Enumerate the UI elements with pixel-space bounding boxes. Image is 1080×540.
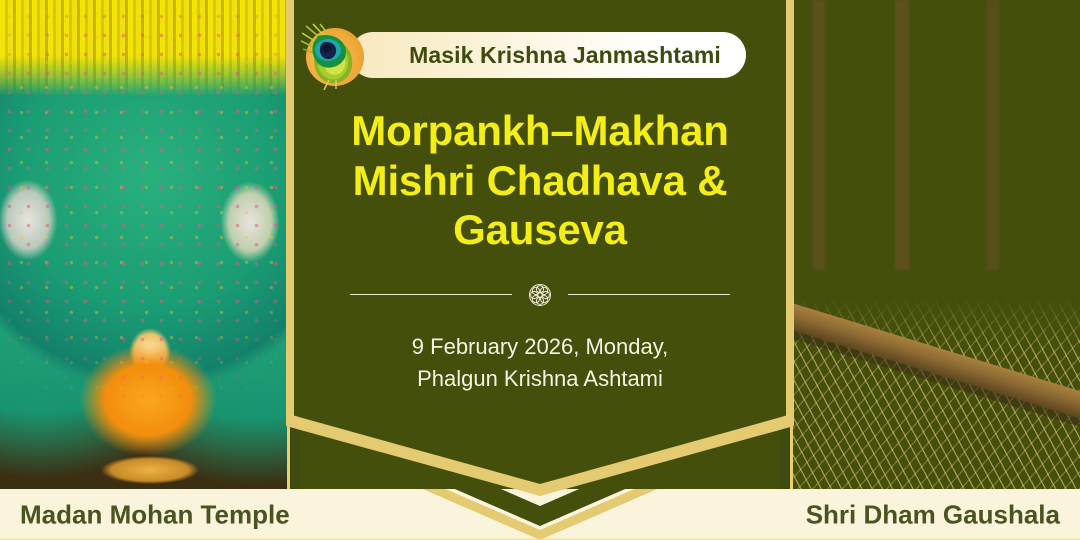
page-title: Morpankh–Makhan Mishri Chadhava & Gausev… (317, 106, 763, 255)
title-line-3: Gauseva (317, 205, 763, 255)
temple-altar-artwork (0, 0, 296, 489)
footer-bar: Madan Mohan Temple Shri Dham Gaushala (0, 489, 1080, 540)
badge-row: Masik Krishna Janmashtami (294, 22, 786, 84)
gaushala-cow-photo (790, 0, 1080, 489)
footer-right-label: Shri Dham Gaushala (806, 499, 1060, 530)
event-type-badge: Masik Krishna Janmashtami (350, 32, 746, 78)
event-banner: Masik Krishna Janmashtami (0, 0, 1080, 540)
gaushala-cow-artwork (790, 0, 1080, 489)
divider-line-left (350, 294, 512, 295)
event-date-line-2: Phalgun Krishna Ashtami (340, 363, 740, 395)
ornamental-divider (350, 281, 730, 309)
center-content: Masik Krishna Janmashtami (294, 0, 786, 489)
temple-altar-photo (0, 0, 296, 489)
event-date-line-1: 9 February 2026, Monday, (340, 331, 740, 363)
peacock-feather-icon (296, 20, 372, 90)
event-date: 9 February 2026, Monday, Phalgun Krishna… (340, 331, 740, 395)
footer-left-label: Madan Mohan Temple (20, 499, 290, 530)
rosette-flower-icon (526, 281, 554, 309)
title-line-1: Morpankh–Makhan (317, 106, 763, 156)
event-type-badge-label: Masik Krishna Janmashtami (375, 42, 721, 69)
title-line-2: Mishri Chadhava & (317, 156, 763, 206)
divider-line-right (568, 294, 730, 295)
